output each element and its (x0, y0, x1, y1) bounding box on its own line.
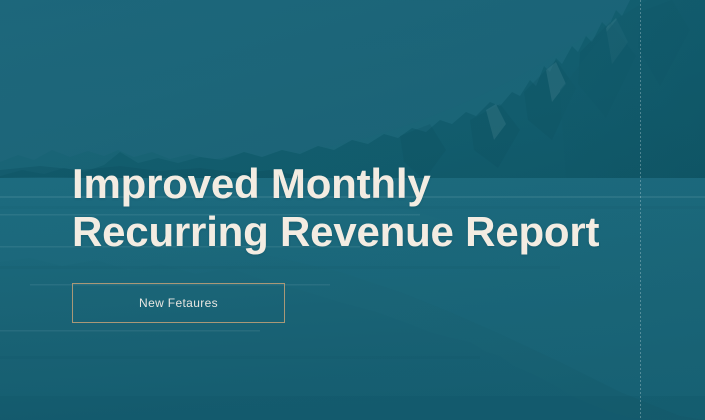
page-title: Improved Monthly Recurring Revenue Repor… (72, 160, 599, 256)
new-features-button[interactable]: New Fetaures (72, 283, 285, 323)
hero-banner: Improved Monthly Recurring Revenue Repor… (0, 0, 705, 420)
hero-content: Improved Monthly Recurring Revenue Repor… (72, 0, 672, 420)
